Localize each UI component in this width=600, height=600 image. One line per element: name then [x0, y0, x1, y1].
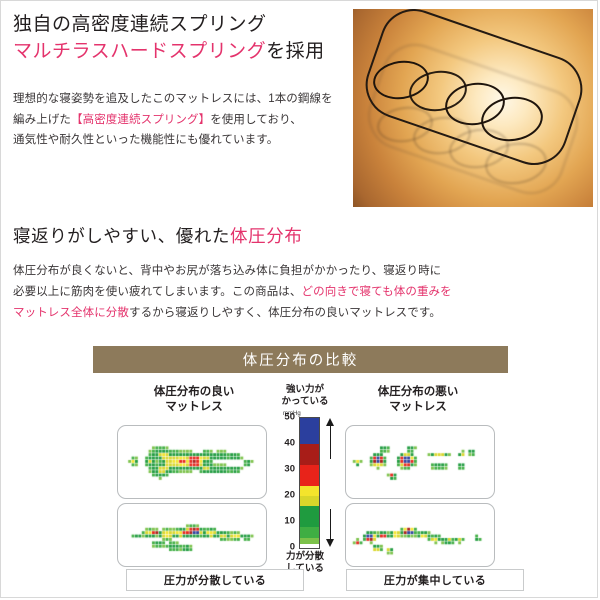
pressure-heading-plain: 寝返りがしやすい、優れた: [13, 226, 230, 246]
scale-tick-labels: 50403020100: [269, 417, 297, 549]
pressure-body-line1: 体圧分布が良くないと、背中やお尻が落ち込み体に負担がかかったり、寝返り時に: [13, 261, 588, 282]
column-heading-good-line1: 体圧分布の良い: [119, 385, 269, 400]
heatmap-panel-good-supine: [117, 425, 267, 499]
legend-top-label-line2: かっている: [269, 396, 341, 408]
heatmap-canvas-good-side: [118, 504, 264, 564]
column-heading-bad-line1: 体圧分布の悪い: [343, 385, 493, 400]
spring-feature-body: 理想的な寝姿勢を追及したこのマットレスには、1本の鋼線を 編み上げた【高密度連続…: [13, 89, 353, 151]
column-heading-good: 体圧分布の良い マットレス: [119, 385, 269, 414]
scale-segment: [300, 486, 319, 496]
spring-body-line3: 通気性や耐久性といった機能性にも優れています。: [13, 130, 353, 151]
scale-tick: 10: [284, 516, 295, 527]
pressure-body-line2-accent: どの向きで寝ても体の重みを: [302, 286, 452, 298]
spring-feature-section: 独自の高密度連続スプリング マルチラスハードスプリングを採用 理想的な寝姿勢を追…: [1, 1, 600, 216]
scale-segment: [300, 544, 319, 548]
pressure-heading: 寝返りがしやすい、優れた体圧分布: [13, 223, 302, 248]
spring-body-line1: 理想的な寝姿勢を追及したこのマットレスには、1本の鋼線を: [13, 89, 353, 110]
legend-top-label: 強い力が かっている: [269, 384, 341, 407]
spring-heading-line1: 独自の高密度連続スプリング: [13, 11, 348, 38]
scale-tick: 40: [284, 438, 295, 449]
spring-body-line2-pre: 編み上げた: [13, 114, 71, 126]
heatmap-panel-good-side: [117, 503, 267, 567]
heatmap-canvas-bad-supine: [346, 426, 492, 496]
scale-direction-arrows: [324, 417, 338, 549]
spring-body-line2: 編み上げた【高密度連続スプリング】を使用しており、: [13, 110, 353, 131]
scale-segment: [300, 444, 319, 465]
arrow-down-head: [326, 539, 334, 547]
spring-body-line2-post: を使用しており、: [210, 114, 302, 126]
pressure-body-line2: 必要以上に筋肉を使い疲れてしまいます。この商品は、どの向きで寝ても体の重みを: [13, 282, 588, 303]
scale-segment: [300, 506, 319, 527]
column-heading-good-line2: マットレス: [119, 400, 269, 415]
pressure-distribution-section: 寝返りがしやすい、優れた体圧分布 体圧分布が良くないと、背中やお尻が落ち込み体に…: [1, 219, 600, 337]
legend-top-label-line1: 強い力が: [269, 384, 341, 396]
heatmap-canvas-bad-side: [346, 504, 492, 564]
spring-body-line2-accent: 【高密度連続スプリング】: [71, 114, 210, 126]
pressure-body-line3-post: するから寝返りしやすく、体圧分布の良いマットレスです。: [129, 307, 441, 319]
scale-color-bar: [299, 417, 320, 549]
scale-segment: [300, 418, 319, 444]
comparison-banner: 体圧分布の比較: [93, 346, 508, 373]
pressure-color-scale: mmHg 50403020100: [269, 413, 341, 573]
arrow-up-line: [330, 425, 331, 459]
scale-tick: 20: [284, 490, 295, 501]
pressure-body-line3-accent: マットレス全体に分散: [13, 307, 129, 319]
spring-heading-line2: マルチラスハードスプリングを採用: [13, 38, 348, 66]
spring-heading-tail: を採用: [266, 41, 325, 62]
column-heading-bad: 体圧分布の悪い マットレス: [343, 385, 493, 414]
spring-feature-text: 独自の高密度連続スプリング マルチラスハードスプリングを採用: [13, 11, 348, 66]
coil-spring-photo: [353, 9, 593, 207]
product-description-page: 独自の高密度連続スプリング マルチラスハードスプリングを採用 理想的な寝姿勢を追…: [0, 0, 598, 598]
heatmap-panel-bad-side: [345, 503, 495, 567]
comparison-block: 体圧分布の比較 体圧分布の良い マットレス 強い力が かっている 体圧分布の悪い…: [1, 341, 600, 599]
heatmap-canvas-good-supine: [118, 426, 264, 496]
pressure-body-line2-pre: 必要以上に筋肉を使い疲れてしまいます。この商品は、: [13, 286, 302, 298]
arrow-up-head: [326, 418, 334, 426]
scale-segment: [300, 527, 319, 537]
caption-pressure-dispersed: 圧力が分散している: [126, 569, 304, 591]
spring-heading-accent: マルチラスハードスプリング: [13, 41, 266, 62]
scale-segment: [300, 496, 319, 506]
column-heading-bad-line2: マットレス: [343, 400, 493, 415]
scale-segment: [300, 465, 319, 486]
legend-bottom-label-line1: 力が分散: [269, 551, 341, 563]
arrow-down-line: [330, 509, 331, 541]
pressure-heading-accent: 体圧分布: [230, 226, 302, 246]
caption-pressure-concentrated: 圧力が集中している: [346, 569, 524, 591]
heatmap-panel-bad-supine: [345, 425, 495, 499]
scale-tick: 50: [284, 412, 295, 423]
pressure-body-line3: マットレス全体に分散するから寝返りしやすく、体圧分布の良いマットレスです。: [13, 303, 588, 324]
scale-tick: 30: [284, 464, 295, 475]
pressure-body: 体圧分布が良くないと、背中やお尻が落ち込み体に負担がかかったり、寝返り時に 必要…: [13, 261, 588, 324]
